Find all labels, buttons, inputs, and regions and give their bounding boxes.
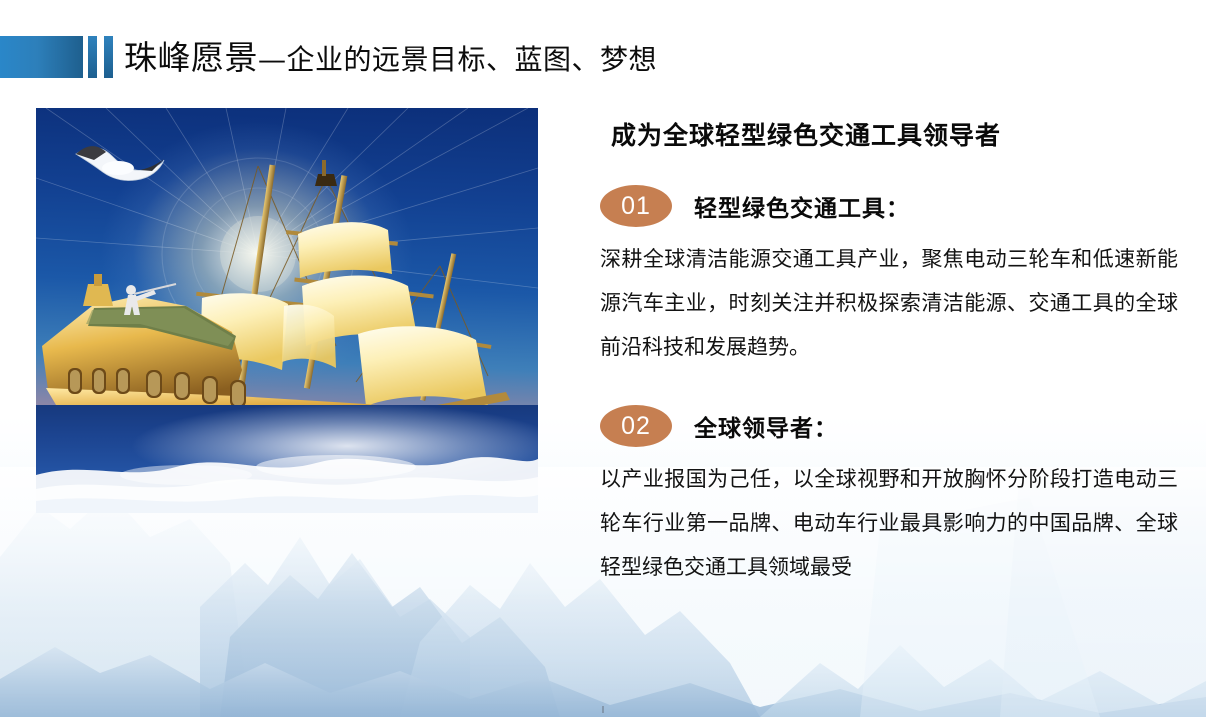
point-title-01: 轻型绿色交通工具： [694, 189, 910, 223]
point-title-02: 全球领导者： [694, 409, 838, 443]
point-body-text-02: 以产业报国为己任，以全球视野和开放胸怀分阶段打造电动三轮车行业第一品牌、电动车行… [600, 458, 1178, 590]
slide-header: 珠峰愿景—企业的远景目标、蓝图、梦想 [0, 0, 1206, 100]
badge-number-02: 02 [600, 405, 672, 447]
point-header-02: 02 全球领导者： [600, 404, 1182, 448]
decoration-bar-2-icon [104, 36, 113, 78]
decoration-bar-1-icon [88, 36, 97, 78]
page-artifact-mark [602, 706, 604, 713]
headline: 成为全球轻型绿色交通工具领导者 [611, 118, 1182, 154]
content-column: 成为全球轻型绿色交通工具领导者 01 轻型绿色交通工具： 深耕全球清洁能源交通工… [600, 118, 1182, 590]
point-header-01: 01 轻型绿色交通工具： [600, 184, 1182, 228]
page-title: 珠峰愿景—企业的远景目标、蓝图、梦想 [124, 34, 657, 89]
sailing-ship-photo [36, 108, 538, 513]
header-decoration [0, 36, 113, 78]
point-item-01: 01 轻型绿色交通工具： 深耕全球清洁能源交通工具产业，聚焦电动三轮车和低速新能… [600, 184, 1182, 370]
point-body-02: 以产业报国为己任，以全球视野和开放胸怀分阶段打造电动三轮车行业第一品牌、电动车行… [600, 458, 1178, 590]
ocean-foam-icon [36, 423, 538, 513]
decoration-block-icon [0, 36, 83, 78]
page-title-sub: —企业的远景目标、蓝图、梦想 [258, 43, 657, 76]
point-item-02: 02 全球领导者： 以产业报国为己任，以全球视野和开放胸怀分阶段打造电动三轮车行… [600, 404, 1182, 590]
point-body-text-01: 深耕全球清洁能源交通工具产业，聚焦电动三轮车和低速新能源汽车主业，时刻关注并积极… [600, 238, 1178, 370]
point-body-01: 深耕全球清洁能源交通工具产业，聚焦电动三轮车和低速新能源汽车主业，时刻关注并积极… [600, 238, 1178, 370]
page-title-main: 珠峰愿景 [124, 38, 258, 77]
badge-number-01: 01 [600, 185, 672, 227]
slide-canvas: 珠峰愿景—企业的远景目标、蓝图、梦想 [0, 0, 1206, 717]
